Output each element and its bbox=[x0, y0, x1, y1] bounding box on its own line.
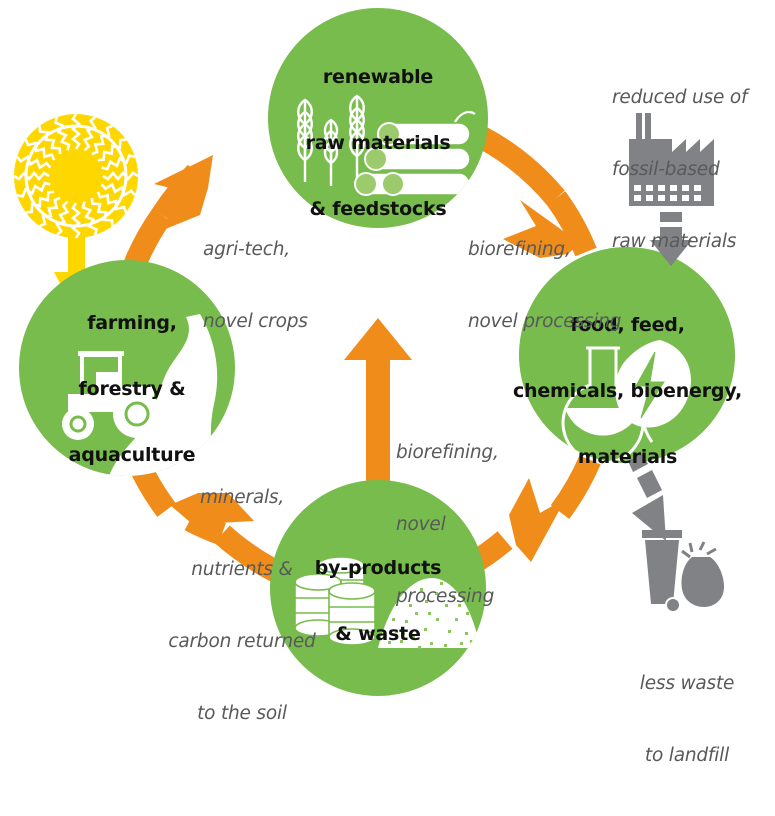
side-label-line: less waste bbox=[617, 672, 757, 696]
node-label-line: renewable bbox=[268, 66, 488, 88]
side-label-line: to landfill bbox=[617, 744, 757, 768]
flow-label-biorefining-center: biorefining, novel processing bbox=[396, 393, 576, 657]
flow-label-minerals: minerals, nutrients & carbon returned to… bbox=[166, 438, 318, 774]
flow-label-agri-tech: agri-tech, novel crops bbox=[203, 190, 403, 382]
node-label-line: raw materials bbox=[268, 132, 488, 154]
flow-label-line: minerals, bbox=[166, 486, 318, 510]
bioeconomy-cycle-diagram: renewable raw materials & feedstocks foo… bbox=[0, 0, 775, 706]
side-label-reduced-fossil: reduced use of fossil-based raw material… bbox=[612, 38, 775, 302]
flow-label-line: carbon returned bbox=[166, 630, 318, 654]
side-label-line: reduced use of bbox=[612, 86, 775, 110]
bin-and-bag-icon bbox=[642, 530, 724, 613]
side-label-line: fossil-based bbox=[612, 158, 775, 182]
node-label-line: forestry & bbox=[47, 378, 217, 400]
flow-label-line: agri-tech, bbox=[203, 238, 403, 262]
side-label-less-waste: less waste to landfill bbox=[617, 624, 757, 816]
flow-label-line: novel processing bbox=[468, 310, 698, 334]
flow-label-line: biorefining, bbox=[396, 441, 576, 465]
sun-icon bbox=[14, 114, 138, 238]
flow-label-line: nutrients & bbox=[166, 558, 318, 582]
flow-label-line: novel crops bbox=[203, 310, 403, 334]
flow-label-line: processing bbox=[396, 585, 576, 609]
node-label-line: farming, bbox=[47, 312, 217, 334]
flow-label-line: novel bbox=[396, 513, 576, 537]
side-label-line: raw materials bbox=[612, 230, 775, 254]
